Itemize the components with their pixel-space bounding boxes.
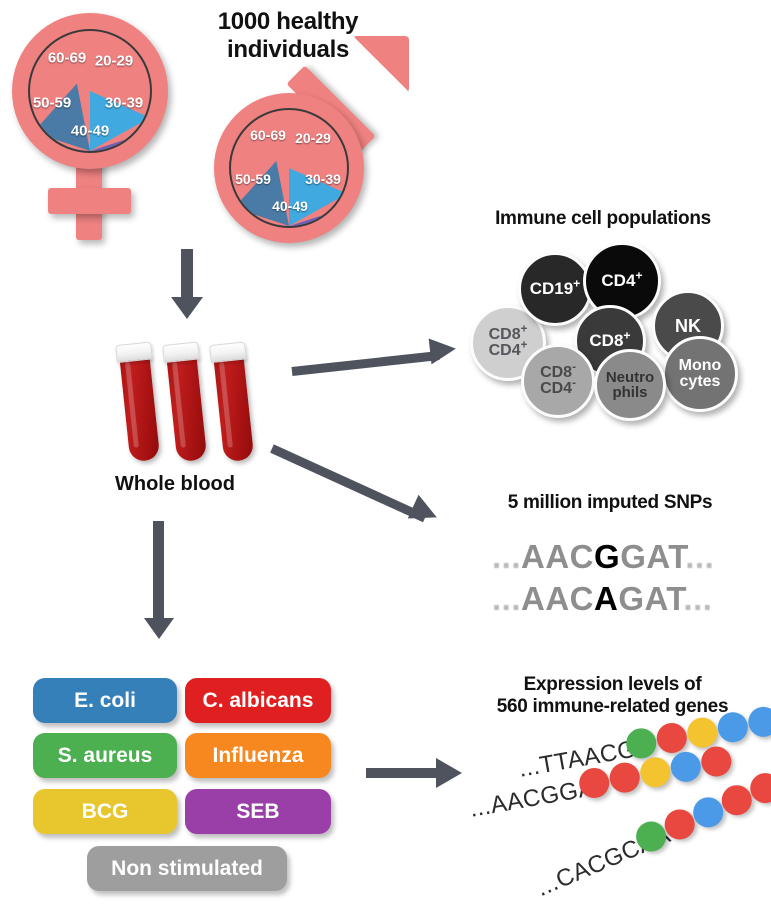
snp-left: AAC [521, 538, 594, 575]
immune-cell-label: CD8+ CD4+ [489, 327, 528, 360]
snp-suffix: ... [685, 538, 714, 575]
expression-bead [685, 715, 720, 750]
stimulus-c-albicans[interactable]: C. albicans [185, 678, 331, 723]
immune-cell-label: NK [675, 317, 701, 335]
snp-prefix: ... [492, 580, 521, 617]
snp-sequence-row: ...AACGGAT... [492, 538, 714, 576]
whole-blood-label: Whole blood [75, 473, 275, 496]
snp-variant-allele: G [594, 538, 620, 575]
blood-tube [118, 341, 167, 474]
immune-cell-label: Monocytes [679, 358, 722, 391]
stimulus-s-aureus[interactable]: S. aureus [33, 733, 177, 778]
stimulus-non-stimulated[interactable]: Non stimulated [87, 846, 287, 891]
tube-lip [115, 341, 153, 363]
expression-title-line1: Expression levels of [524, 674, 702, 695]
stimulus-influenza[interactable]: Influenza [185, 733, 331, 778]
blood-tube [165, 341, 214, 474]
snps-title: 5 million imputed SNPs [455, 492, 765, 514]
blood-tube [212, 341, 261, 474]
female-stem-horizontal [48, 188, 131, 214]
pie-label-30-39: 30-39 [105, 95, 143, 112]
stimulus-bcg[interactable]: BCG [33, 789, 177, 834]
immune-cell-label: CD8+ [589, 332, 630, 349]
snp-left: AAC [521, 580, 594, 617]
immune-cell-cd19p: CD19+ [518, 252, 592, 326]
expression-title: Expression levels of 560 immune-related … [455, 674, 770, 718]
pie-label-40-49: 40-49 [71, 123, 109, 140]
figure-canvas: 1000 healthy individuals 20-29 30-39 40-… [0, 0, 771, 922]
pie-label-50-59: 50-59 [235, 171, 271, 187]
snp-suffix: ... [683, 580, 712, 617]
pie-label-40-49: 40-49 [272, 198, 308, 214]
expression-bead [699, 744, 734, 779]
pie-label-20-29: 20-29 [95, 53, 133, 70]
cohort-title: 1000 healthy individuals [178, 8, 398, 63]
stimulus-seb[interactable]: SEB [185, 789, 331, 834]
expression-title-line2: 560 immune-related genes [497, 696, 728, 717]
immune-cell-title: Immune cell populations [443, 208, 763, 230]
immune-cell-label: CD8- CD4- [540, 365, 576, 398]
pie-label-60-69: 60-69 [250, 127, 286, 143]
immune-cell-monocytes: Monocytes [662, 336, 738, 412]
immune-cell-label: CD19+ [530, 280, 581, 297]
pie-label-20-29: 20-29 [295, 130, 331, 146]
snp-variant-allele: A [594, 580, 618, 617]
tube-lip [209, 341, 247, 363]
immune-cell-cd8n-cd4n: CD8- CD4- [521, 344, 595, 418]
immune-cell-neutrophils: Neutrophils [594, 349, 666, 421]
tube-lip [162, 341, 200, 363]
pie-label-60-69: 60-69 [48, 50, 86, 67]
snp-right: GAT [618, 580, 683, 617]
snp-prefix: ... [492, 538, 521, 575]
expression-bead [668, 749, 703, 784]
stimulus-e-coli[interactable]: E. coli [33, 678, 177, 723]
expression-bead [654, 721, 689, 756]
snp-sequence-row: ...AACAGAT... [492, 580, 712, 618]
pie-label-50-59: 50-59 [33, 95, 71, 112]
pie-label-30-39: 30-39 [305, 171, 341, 187]
snp-right: GAT [620, 538, 685, 575]
immune-cell-label: CD4+ [601, 272, 642, 289]
immune-cell-label: Neutrophils [606, 370, 654, 401]
